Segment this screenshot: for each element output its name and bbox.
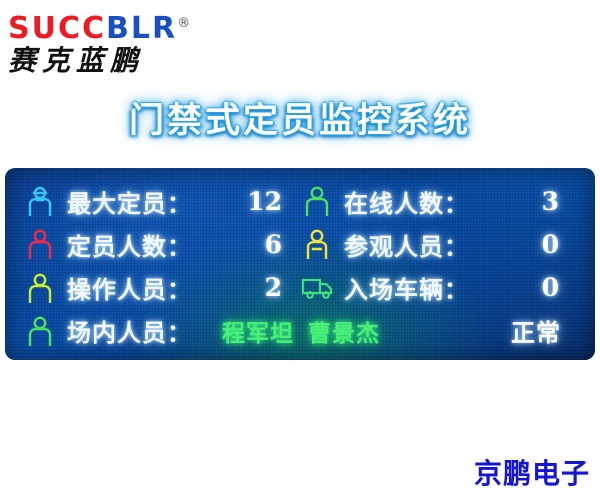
led-field-vehicle-count: 入场车辆： 0 [300, 269, 577, 307]
led-value: 2 [265, 273, 282, 302]
led-row: 操作人员： 2 入场车辆： 0 [23, 269, 577, 307]
person-icon [300, 184, 334, 218]
led-value: 6 [265, 230, 282, 259]
led-field-registered-count: 定员人数： 6 [23, 225, 300, 263]
led-label: 参观人员： [344, 227, 469, 262]
personnel-name: 曹景杰 [308, 321, 380, 347]
led-label: 操作人员： [67, 270, 192, 305]
company-logo: SUCCBLR® 赛克蓝鹏 [8, 8, 238, 74]
personnel-name: 程军坦 [222, 321, 294, 347]
truck-icon [300, 271, 334, 305]
led-row-personnel-on-site: 场内人员： 程军坦曹景杰 正常 [23, 312, 577, 350]
led-value: 3 [542, 187, 559, 216]
person-icon [23, 227, 57, 261]
led-label: 入场车辆： [344, 270, 469, 305]
led-field-online-count: 在线人数： 3 [300, 182, 577, 220]
page-title: 门禁式定员监控系统 [0, 92, 600, 143]
led-label: 最大定员： [67, 184, 192, 219]
person-icon [23, 314, 57, 348]
led-value: 0 [542, 230, 559, 259]
led-field-personnel-on-site: 场内人员： 程军坦曹景杰 正常 [23, 312, 577, 350]
visitor-person-icon [300, 227, 334, 261]
led-field-operator-count: 操作人员： 2 [23, 269, 300, 307]
operator-person-icon [23, 271, 57, 305]
footer-company-name: 京鹏电子 [474, 452, 590, 492]
registered-trademark-icon: ® [177, 16, 190, 31]
logo-latin-succ: SUCC [8, 11, 106, 46]
led-row: 最大定员： 12 在线人数： 3 [23, 182, 577, 220]
status-badge: 正常 [511, 313, 561, 348]
personnel-name-list: 程军坦曹景杰 [222, 314, 380, 348]
led-label: 场内人员： [67, 313, 192, 348]
logo-latin-blr: BLR [106, 11, 177, 46]
logo-chinese-text: 赛克蓝鹏 [8, 46, 238, 76]
person-with-cap-icon [23, 184, 57, 218]
led-label: 在线人数： [344, 184, 469, 219]
led-field-max-capacity: 最大定员： 12 [23, 182, 300, 220]
led-label: 定员人数： [67, 227, 192, 262]
led-display-panel: 最大定员： 12 在线人数： 3 [5, 168, 595, 360]
logo-latin-text: SUCCBLR® [8, 8, 238, 45]
led-field-visitor-count: 参观人员： 0 [300, 225, 577, 263]
led-display-content: 最大定员： 12 在线人数： 3 [5, 168, 595, 360]
led-row: 定员人数： 6 参观人员： 0 [23, 225, 577, 263]
led-value: 12 [247, 187, 282, 216]
led-value: 0 [542, 273, 559, 302]
